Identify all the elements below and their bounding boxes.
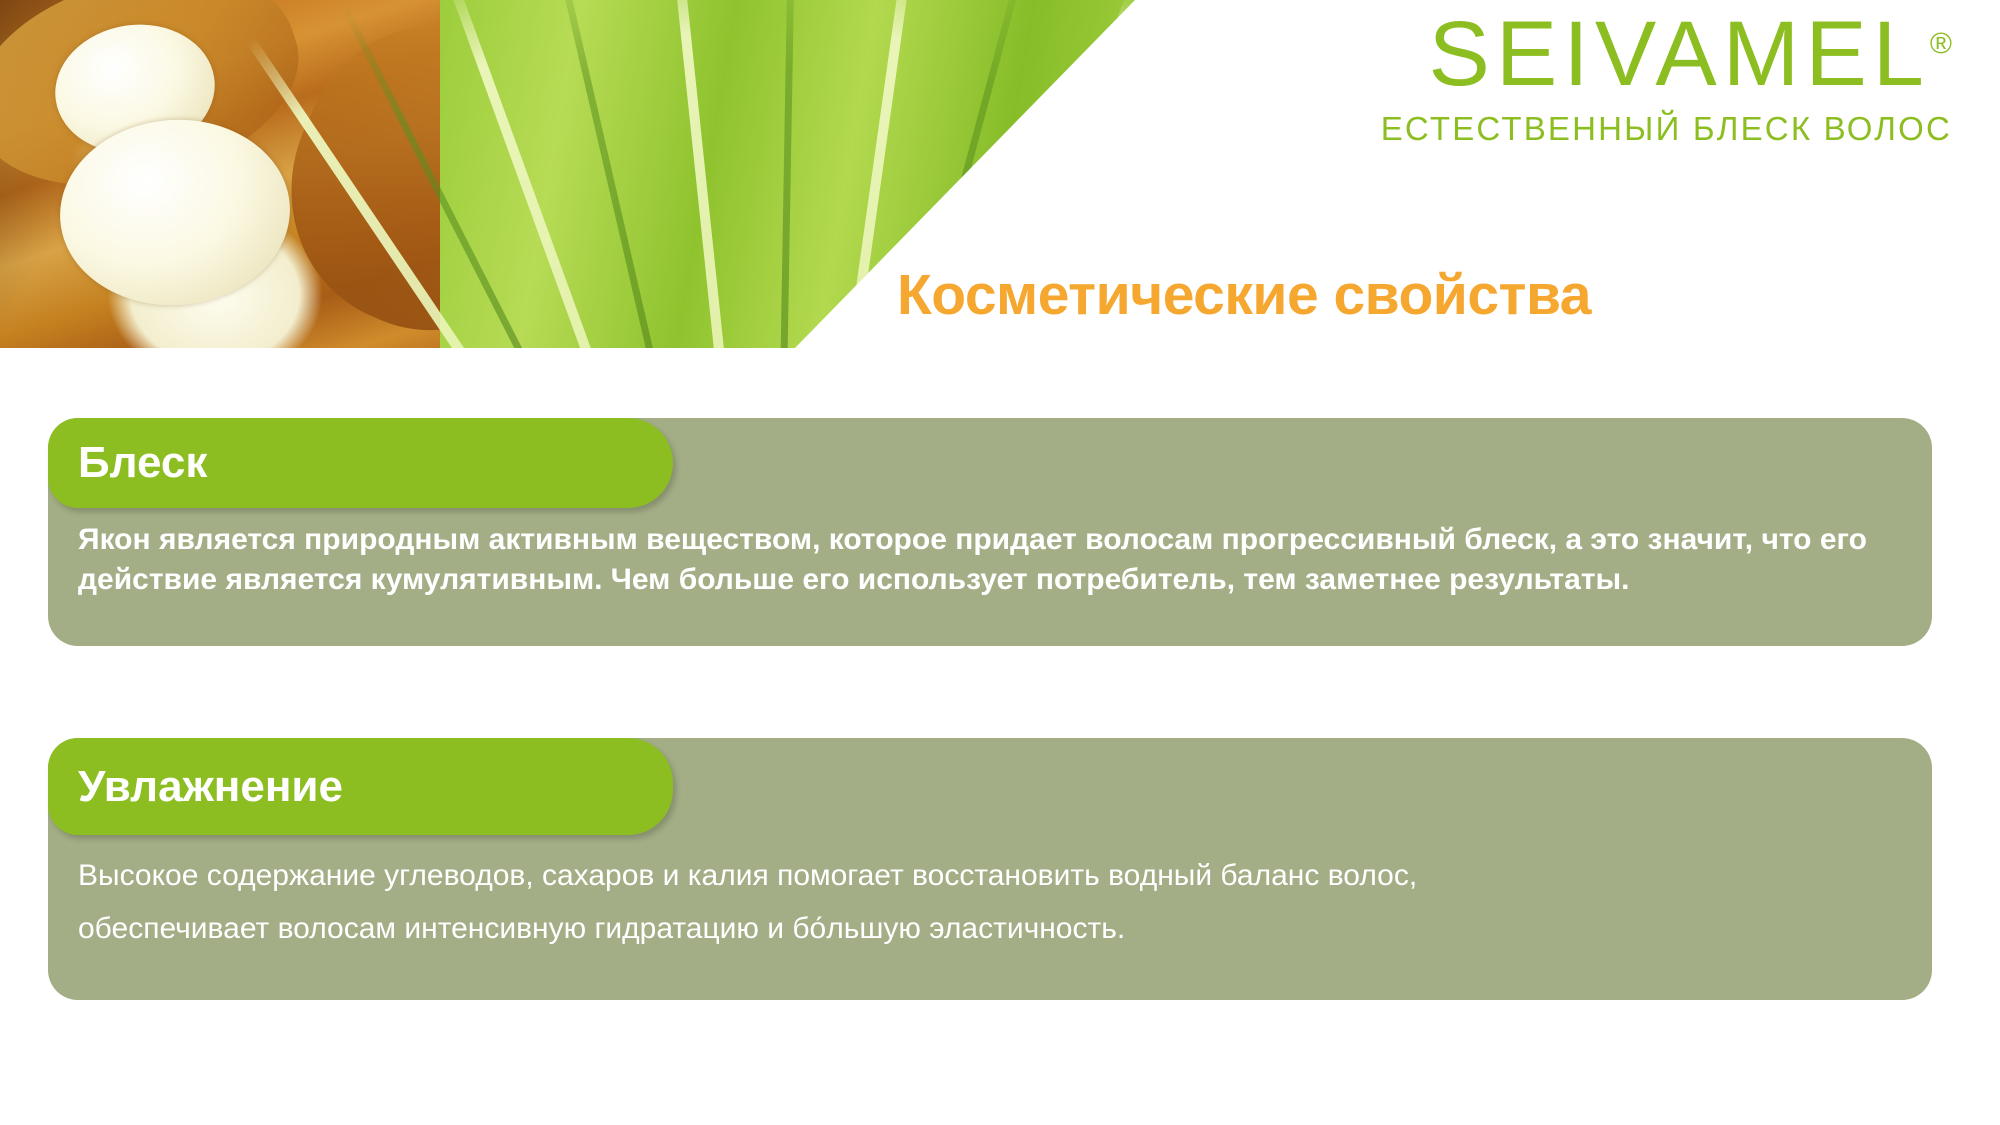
page-title: Косметические свойства (897, 262, 1591, 328)
card-header-hydration: Увлажнение (48, 738, 673, 835)
card-body-text: Якон является природным активным веществ… (78, 520, 1892, 600)
property-card-hydration: Увлажнение Высокое содержание углеводов,… (48, 738, 1932, 1000)
card-body-line-2: обеспечивает волосам интенсивную гидрата… (78, 903, 1892, 956)
property-card-shine: Блеск Якон является природным активным в… (48, 418, 1932, 646)
leaf-vein (780, 0, 795, 348)
card-header-shine: Блеск (48, 418, 673, 508)
card-title: Увлажнение (78, 762, 343, 812)
card-title: Блеск (78, 438, 207, 488)
brand-name-text: SEIVAMEL (1429, 3, 1930, 105)
card-body-text: Высокое содержание углеводов, сахаров и … (78, 850, 1892, 955)
card-body-line-1: Высокое содержание углеводов, сахаров и … (78, 850, 1892, 903)
brand-name: SEIVAMEL® (1381, 8, 1952, 100)
leaf-vein (670, 0, 728, 348)
brand-logo: SEIVAMEL® ЕСТЕСТВЕННЫЙ БЛЕСК ВОЛОС (1381, 8, 1952, 145)
brand-tagline: ЕСТЕСТВЕННЫЙ БЛЕСК ВОЛОС (1381, 112, 1952, 145)
registered-trademark-icon: ® (1930, 27, 1952, 60)
